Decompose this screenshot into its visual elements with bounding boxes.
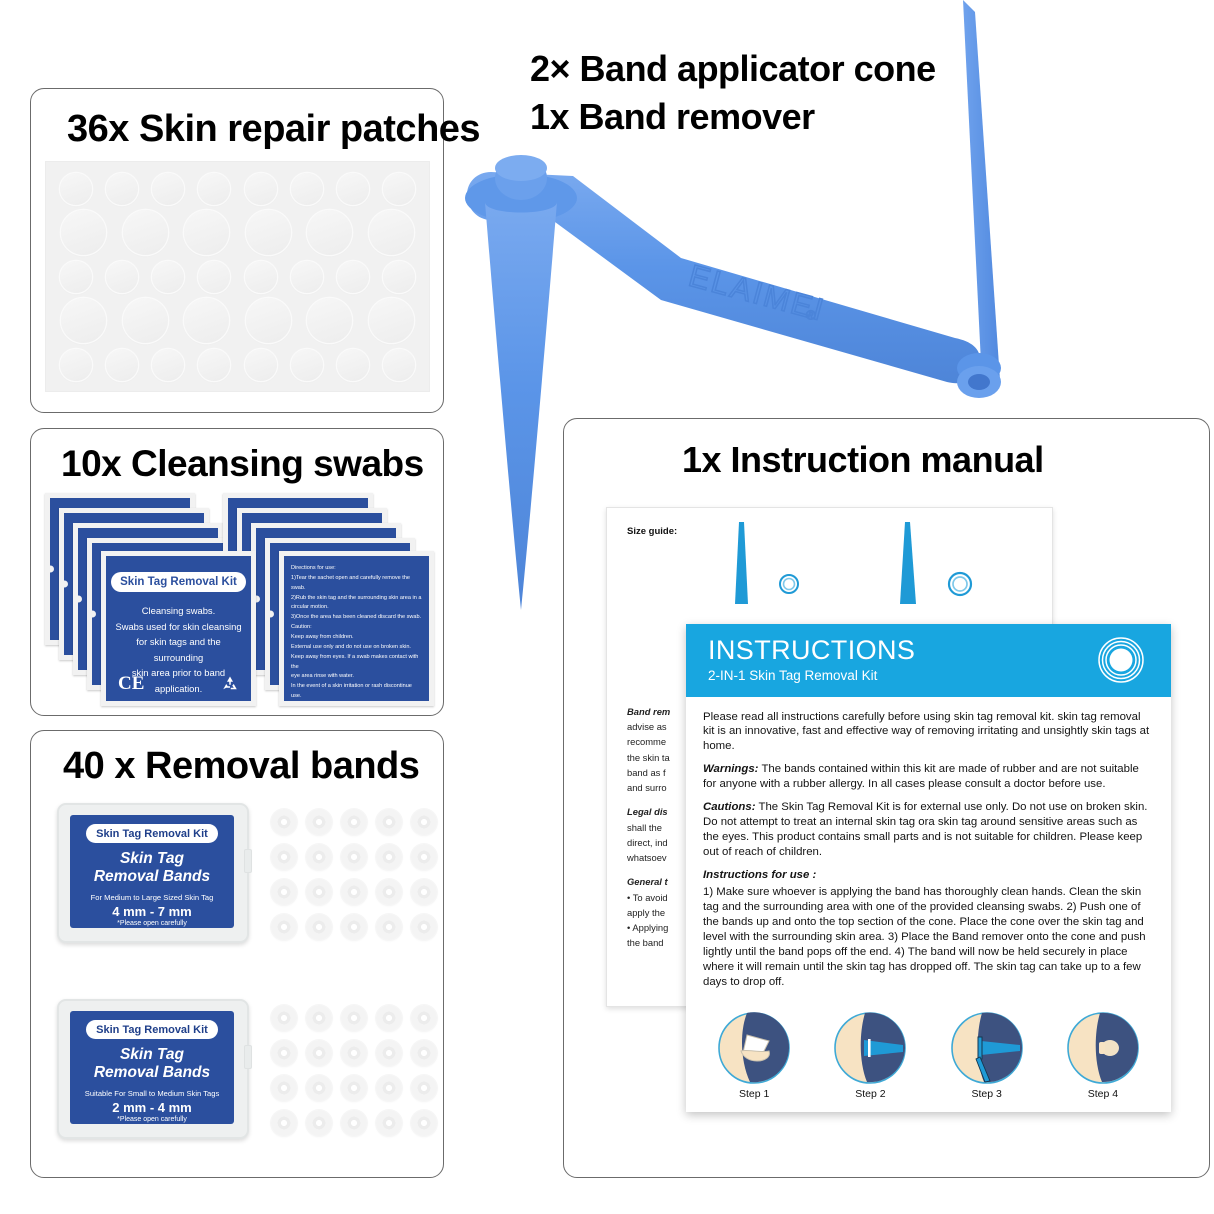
removal-band xyxy=(411,1110,437,1136)
skin-patch xyxy=(152,173,184,205)
panel-instruction-manual: 1x Instruction manual Size guide: Band r… xyxy=(563,418,1210,1178)
removal-band xyxy=(376,809,402,835)
skin-patch xyxy=(369,298,414,343)
skin-patch xyxy=(61,298,106,343)
swabs-title: 10x Cleansing swabs xyxy=(61,443,424,485)
cone-band-icon xyxy=(833,1011,907,1085)
band-size: 2 mm - 4 mm xyxy=(112,1100,191,1115)
swab-stack-image: Skin Tag Removal Kit Cleansing swabs. Sw… xyxy=(37,491,437,709)
removal-band xyxy=(411,1075,437,1101)
instructions-use-text: 1) Make sure whoever is applying the ban… xyxy=(703,885,1154,990)
use-label: Instructions for use : xyxy=(703,869,816,881)
step-item: Step 1 xyxy=(717,1011,791,1100)
removal-band xyxy=(341,1005,367,1031)
swab-direction-line: 2)Rub the skin tag and the surrounding s… xyxy=(291,594,422,604)
banded-tag-icon xyxy=(1066,1011,1140,1085)
skin-patch xyxy=(60,261,92,293)
removal-band xyxy=(271,1075,297,1101)
removal-band xyxy=(271,879,297,905)
skin-patch xyxy=(245,173,277,205)
removal-band xyxy=(341,1110,367,1136)
removal-band xyxy=(411,844,437,870)
step-label: Step 1 xyxy=(717,1088,791,1100)
skin-patch xyxy=(184,210,229,255)
removal-band xyxy=(411,879,437,905)
swab-direction-line: circular motion. xyxy=(291,603,422,613)
skin-patch xyxy=(123,210,168,255)
panel-removal-bands: 40 x Removal bands Skin Tag Removal Kit … xyxy=(30,730,444,1178)
skin-patch xyxy=(337,261,369,293)
removal-band xyxy=(306,1005,332,1031)
skin-patch xyxy=(123,298,168,343)
removal-band xyxy=(341,914,367,940)
step-label: Step 3 xyxy=(950,1088,1024,1100)
patch-row xyxy=(53,173,422,205)
band-note: *Please open carefully xyxy=(117,1116,187,1123)
skin-patch xyxy=(60,349,92,381)
removal-band xyxy=(306,809,332,835)
band-brand-pill: Skin Tag Removal Kit xyxy=(86,824,218,843)
removal-band xyxy=(411,1005,437,1031)
removal-band xyxy=(271,1040,297,1066)
skin-patch xyxy=(106,349,138,381)
size-guide-diagram xyxy=(717,522,1047,612)
cautions-label: Cautions: xyxy=(703,801,756,813)
instructions-card: INSTRUCTIONS 2-IN-1 Skin Tag Removal Kit… xyxy=(686,624,1171,1112)
skin-patch xyxy=(383,173,415,205)
skin-patch xyxy=(337,173,369,205)
removal-band xyxy=(306,914,332,940)
band-heading-line1: Skin Tag xyxy=(120,850,184,867)
band-ring-grid-large xyxy=(271,809,437,940)
removal-band xyxy=(411,1040,437,1066)
instructions-cautions: Cautions: The Skin Tag Removal Kit is fo… xyxy=(703,800,1154,860)
skin-patch xyxy=(291,349,323,381)
removal-band xyxy=(341,1075,367,1101)
skin-patch xyxy=(383,349,415,381)
swab-sachet-front-brand: Skin Tag Removal Kit Cleansing swabs. Sw… xyxy=(101,551,256,706)
skin-patch xyxy=(246,210,291,255)
skin-patch xyxy=(61,210,106,255)
removal-band xyxy=(306,844,332,870)
skin-patch xyxy=(60,173,92,205)
skin-patch xyxy=(369,210,414,255)
band-size: 4 mm - 7 mm xyxy=(112,904,191,919)
patch-row xyxy=(53,261,422,293)
instructions-card-body: Please read all instructions carefully b… xyxy=(686,697,1171,1004)
removal-band xyxy=(411,914,437,940)
hand-wipe-icon xyxy=(717,1011,791,1085)
instructions-heading: INSTRUCTIONS xyxy=(708,637,1149,664)
patch-row xyxy=(53,210,422,255)
skin-patch xyxy=(198,349,230,381)
warnings-text: The bands contained within this kit are … xyxy=(703,763,1139,790)
swab-direction-line: In the event of a skin irritation or ras… xyxy=(291,682,422,701)
removal-band xyxy=(376,844,402,870)
patch-row xyxy=(53,298,422,343)
skin-patch xyxy=(152,349,184,381)
recycle-icon xyxy=(221,675,239,693)
instructions-intro: Please read all instructions carefully b… xyxy=(703,710,1154,755)
skin-patch xyxy=(245,349,277,381)
removal-band xyxy=(341,844,367,870)
band-heading-line2: Removal Bands xyxy=(94,868,210,885)
warnings-label: Warnings: xyxy=(703,763,758,775)
skin-patch xyxy=(106,261,138,293)
band-heading-line2: Removal Bands xyxy=(94,1064,210,1081)
panel-cleansing-swabs: 10x Cleansing swabs Skin Tag Removal Kit… xyxy=(30,428,444,716)
swab-sachet-front-directions: Directions for use:1)Tear the sachet ope… xyxy=(279,551,434,706)
band-subtitle: For Medium to Large Sized Skin Tag xyxy=(91,893,214,902)
skin-patch xyxy=(307,298,352,343)
skin-patch xyxy=(291,173,323,205)
step-item: Step 4 xyxy=(1066,1011,1140,1100)
removal-band xyxy=(376,914,402,940)
removal-band xyxy=(341,879,367,905)
step-label: Step 4 xyxy=(1066,1088,1140,1100)
removal-band xyxy=(376,1040,402,1066)
band-heading-line1: Skin Tag xyxy=(120,1046,184,1063)
ce-mark: CE xyxy=(118,673,144,695)
remover-push-icon xyxy=(950,1011,1024,1085)
skin-patch xyxy=(198,173,230,205)
removal-band xyxy=(271,844,297,870)
swab-direction-line: Caution: xyxy=(291,623,422,633)
step-item: Step 3 xyxy=(950,1011,1024,1100)
skin-patch xyxy=(246,298,291,343)
manual-title: 1x Instruction manual xyxy=(682,439,1044,481)
instructions-card-header: INSTRUCTIONS 2-IN-1 Skin Tag Removal Kit xyxy=(686,624,1171,697)
removal-band xyxy=(271,914,297,940)
removal-band xyxy=(306,1075,332,1101)
removal-band xyxy=(411,809,437,835)
swab-direction-line: Keep away from children. xyxy=(291,633,422,643)
removal-band xyxy=(376,1110,402,1136)
skin-patch xyxy=(291,261,323,293)
band-note: *Please open carefully xyxy=(117,920,187,927)
swab-direction-line: External use only and do not use on brok… xyxy=(291,643,422,653)
removal-band xyxy=(341,1040,367,1066)
removal-band xyxy=(306,1040,332,1066)
band-case-small: Skin Tag Removal Kit Skin Tag Removal Ba… xyxy=(57,999,249,1139)
swab-front-line: for skin tags and the surrounding xyxy=(114,634,243,665)
removal-band xyxy=(376,1005,402,1031)
cautions-text: The Skin Tag Removal Kit is for external… xyxy=(703,801,1147,858)
skin-patch xyxy=(198,261,230,293)
skin-patch xyxy=(152,261,184,293)
skin-patch xyxy=(106,173,138,205)
instructions-warnings: Warnings: The bands contained within thi… xyxy=(703,762,1154,792)
removal-band xyxy=(271,1005,297,1031)
removal-band xyxy=(271,809,297,835)
band-subtitle: Suitable For Small to Medium Skin Tags xyxy=(85,1089,220,1098)
swab-direction-line: 1)Tear the sachet open and carefully rem… xyxy=(291,574,422,594)
patch-row xyxy=(53,349,422,381)
skin-patch xyxy=(337,349,369,381)
panel-skin-repair-patches: 36x Skin repair patches xyxy=(30,88,444,413)
band-case-large: Skin Tag Removal Kit Skin Tag Removal Ba… xyxy=(57,803,249,943)
patch-sheet-image xyxy=(45,161,430,392)
removal-band xyxy=(376,1075,402,1101)
removal-band xyxy=(306,1110,332,1136)
step-diagrams: Step 1 Step 2 Step 3 xyxy=(686,1003,1171,1112)
removal-band xyxy=(271,1110,297,1136)
patches-title: 36x Skin repair patches xyxy=(67,108,480,151)
swab-direction-line: 3)Once the area has been cleaned discard… xyxy=(291,613,422,623)
removal-band xyxy=(376,879,402,905)
skin-patch xyxy=(383,261,415,293)
swab-direction-line: Keep away from eyes. If a swab makes con… xyxy=(291,653,422,673)
step-item: Step 2 xyxy=(833,1011,907,1100)
removal-band xyxy=(306,879,332,905)
swab-direction-line: Directions for use: xyxy=(291,564,422,574)
swab-front-line: Cleansing swabs. xyxy=(114,603,243,619)
removal-band xyxy=(341,809,367,835)
skin-patch xyxy=(184,298,229,343)
swab-front-line: Swabs used for skin cleansing xyxy=(114,619,243,635)
step-label: Step 2 xyxy=(833,1088,907,1100)
swab-brand-pill: Skin Tag Removal Kit xyxy=(111,572,246,592)
skin-patch xyxy=(245,261,277,293)
swab-direction-line: eye area rinse with water. xyxy=(291,672,422,682)
concentric-rings-logo-icon xyxy=(1097,636,1145,684)
skin-patch xyxy=(307,210,352,255)
swab-directions-text: Directions for use:1)Tear the sachet ope… xyxy=(291,564,422,701)
band-ring-grid-small xyxy=(271,1005,437,1136)
instructions-subheading: 2-IN-1 Skin Tag Removal Kit xyxy=(708,669,1149,683)
band-brand-pill: Skin Tag Removal Kit xyxy=(86,1020,218,1039)
bands-title: 40 x Removal bands xyxy=(63,745,419,788)
